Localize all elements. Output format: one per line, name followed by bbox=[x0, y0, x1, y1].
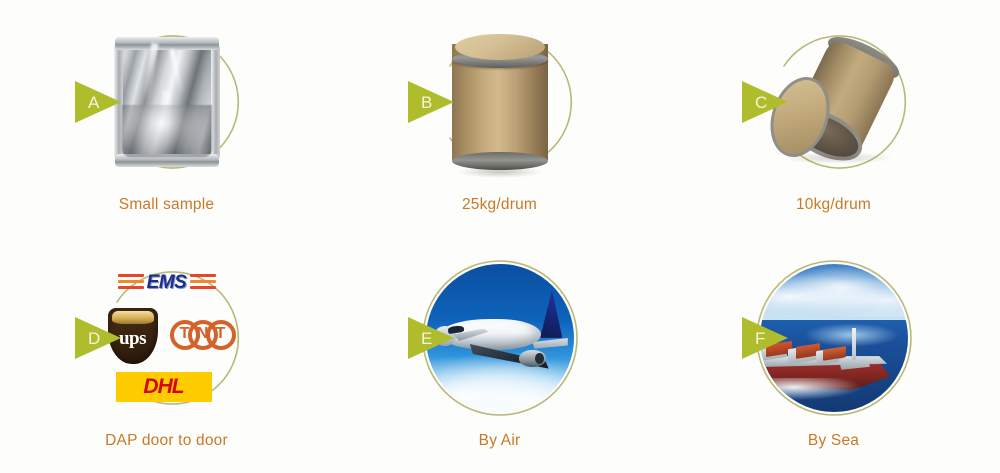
item-cell-d: EMS ups T N bbox=[0, 236, 333, 472]
marker-arrow-c[interactable]: C bbox=[736, 75, 794, 129]
caption-e: By Air bbox=[333, 432, 666, 450]
tnt-letter-3: T bbox=[206, 325, 236, 343]
ems-stripes-left bbox=[118, 274, 144, 291]
item-cell-c: C 10kg/drum bbox=[667, 0, 1000, 236]
caption-d: DAP door to door bbox=[0, 432, 333, 450]
marker-arrow-d[interactable]: D bbox=[69, 311, 127, 365]
badge-d: EMS ups T N bbox=[87, 258, 247, 418]
marker-letter-f: F bbox=[755, 329, 765, 348]
dhl-logo: DHL bbox=[116, 372, 212, 402]
marker-letter-d: D bbox=[88, 329, 100, 348]
marker-arrow-a[interactable]: A bbox=[69, 75, 127, 129]
marker-arrow-e[interactable]: E bbox=[402, 311, 460, 365]
caption-a: Small sample bbox=[0, 196, 333, 214]
marker-arrow-f[interactable]: F bbox=[736, 311, 794, 365]
ems-logo-text: EMS bbox=[147, 272, 187, 294]
dhl-logo-text: DHL bbox=[143, 375, 183, 399]
caption-b: 25kg/drum bbox=[333, 196, 666, 214]
item-cell-a: A Small sample bbox=[0, 0, 333, 236]
packaging-shipping-board: A Small sample bbox=[0, 0, 1000, 473]
item-cell-e: E By Air bbox=[333, 236, 666, 472]
ems-logo: EMS bbox=[118, 270, 216, 296]
ems-stripes-right bbox=[190, 274, 216, 291]
marker-letter-b: B bbox=[421, 93, 432, 112]
badge-c: C bbox=[754, 22, 914, 182]
badge-b: B bbox=[420, 22, 580, 182]
tnt-logo: T N T bbox=[170, 320, 236, 350]
badge-a: A bbox=[87, 22, 247, 182]
item-cell-b: B 25kg/drum bbox=[333, 0, 666, 236]
badge-f: F bbox=[754, 258, 914, 418]
caption-c: 10kg/drum bbox=[667, 196, 1000, 214]
marker-letter-a: A bbox=[88, 93, 100, 112]
item-cell-f: F By Sea bbox=[667, 236, 1000, 472]
marker-letter-c: C bbox=[755, 93, 767, 112]
caption-f: By Sea bbox=[667, 432, 1000, 450]
badge-e: E bbox=[420, 258, 580, 418]
marker-arrow-b[interactable]: B bbox=[402, 75, 460, 129]
marker-letter-e: E bbox=[421, 329, 432, 348]
